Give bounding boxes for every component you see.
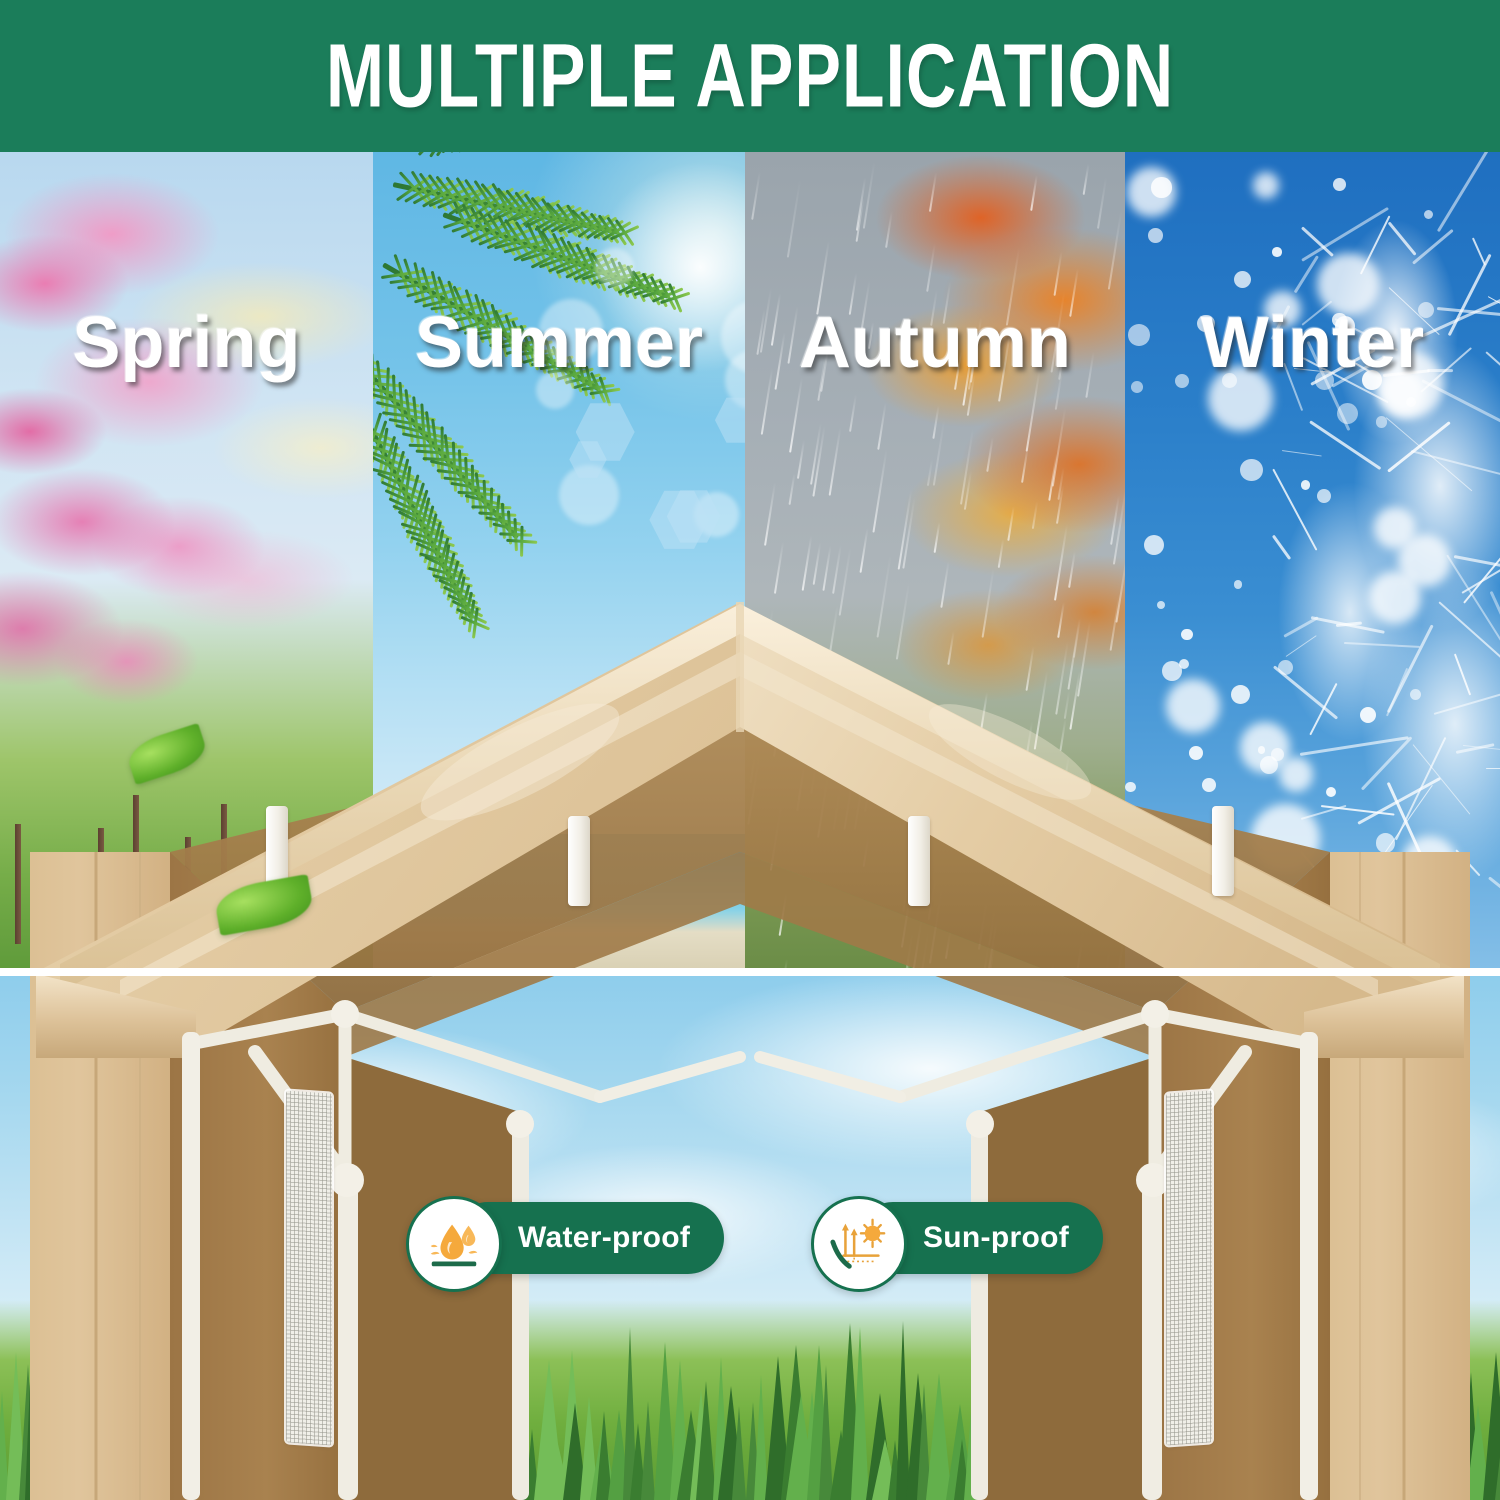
canopy-strap [568, 816, 590, 906]
water-drop-icon [423, 1213, 485, 1275]
canopy-strap [1212, 806, 1234, 896]
sun-proof-icon-wrap [811, 1196, 907, 1292]
product-feature-poster: MULTIPLE APPLICATION Spring Summer Autum… [0, 0, 1500, 1500]
badge-water-proof[interactable]: Water-proof [406, 1196, 706, 1280]
water-proof-label: Water-proof [518, 1221, 690, 1255]
sun-protection-icon [828, 1213, 890, 1275]
header-banner: MULTIPLE APPLICATION [0, 0, 1500, 152]
section-divider [0, 968, 1500, 976]
page-title: MULTIPLE APPLICATION [326, 25, 1174, 128]
badge-sun-proof[interactable]: Sun-proof [811, 1196, 1101, 1280]
water-proof-icon-wrap [406, 1196, 502, 1292]
feature-badges: Water-proof Sun-proof [0, 1196, 1500, 1312]
canopy-strap [908, 816, 930, 906]
sun-proof-label: Sun-proof [923, 1221, 1069, 1255]
